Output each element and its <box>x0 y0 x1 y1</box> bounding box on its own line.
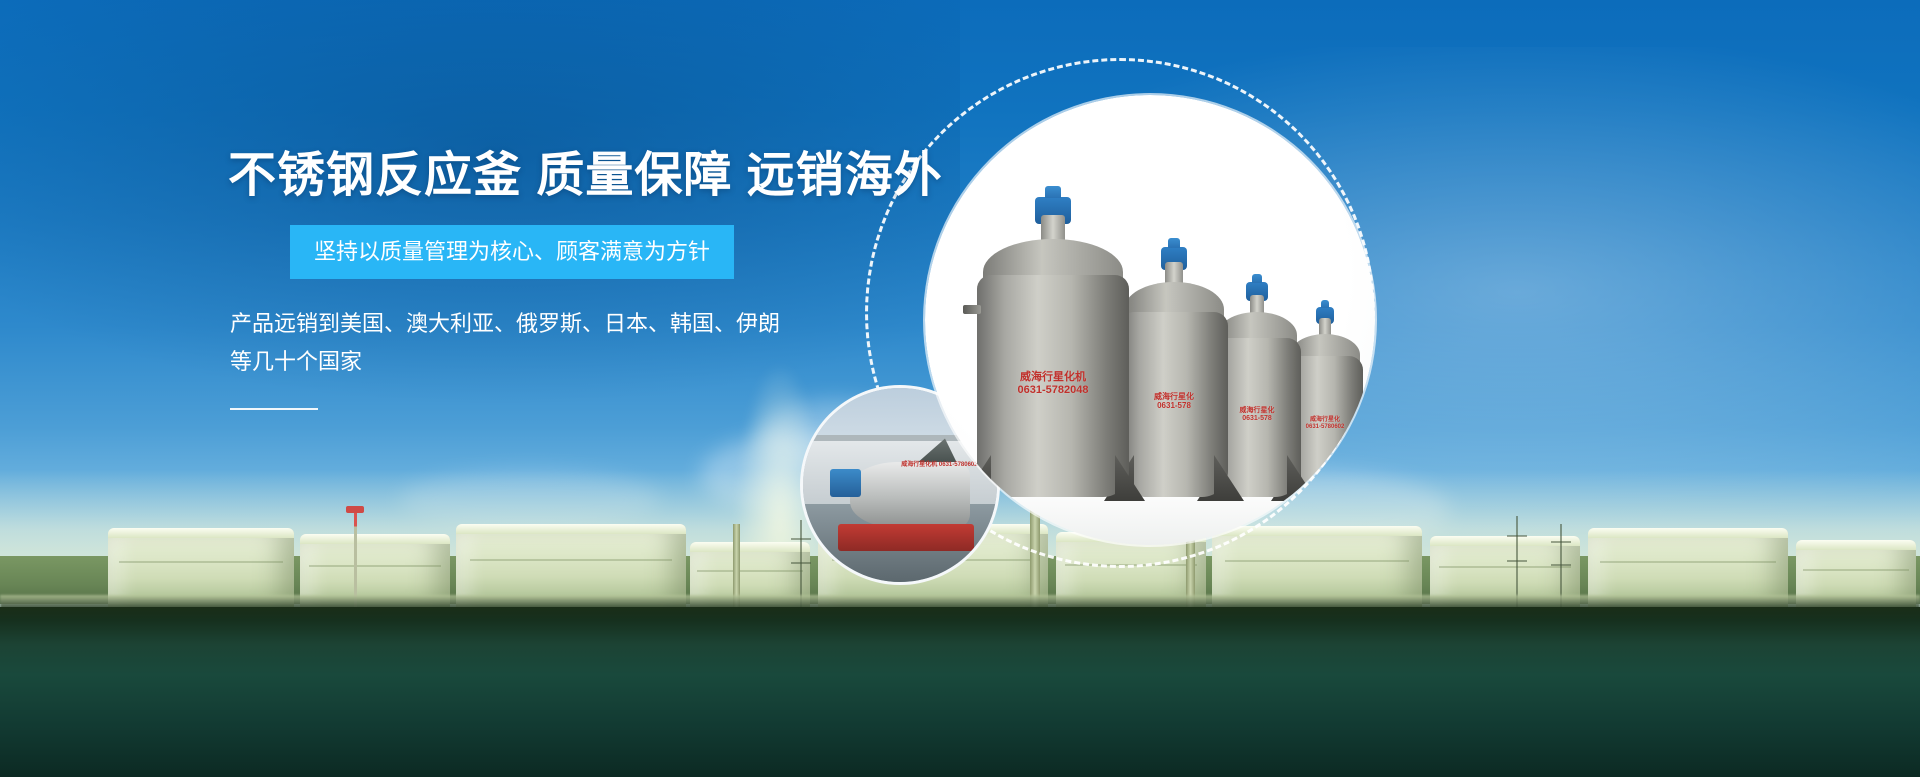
vessel-label: 威海行星化 0631-578 <box>1129 392 1220 410</box>
vessel-label-company: 威海行星化 <box>1129 392 1220 401</box>
vessel-label: 威海行星化机 0631-5782048 <box>989 371 1117 396</box>
banner-headline: 不锈钢反应釜 质量保障 远销海外 <box>228 150 928 203</box>
water <box>0 607 1920 777</box>
vessel-label: 威海行星化 0631-578 <box>1220 407 1294 423</box>
banner-paragraph-line-1: 产品远销到美国、澳大利亚、俄罗斯、日本、韩国、伊朗 <box>230 305 928 344</box>
banner-subtitle-bar: 坚持以质量管理为核心、顾客满意为方针 <box>290 225 734 279</box>
banner-paragraph-line-2: 等几十个国家 <box>230 343 928 382</box>
banner-paragraph: 产品远销到美国、澳大利亚、俄罗斯、日本、韩国、伊朗 等几十个国家 <box>230 305 928 382</box>
vessel-label-phone: 0631-578 <box>1129 401 1220 410</box>
photo-vessel-motor <box>830 469 861 496</box>
vessel-label-company: 威海行星化 <box>1220 407 1294 415</box>
photo-vessel-label: 威海行星化机 0631-5780602 <box>901 462 977 469</box>
vessel-label-phone: 0631-5782048 <box>989 384 1117 397</box>
vessel-label-phone: 0631-578 <box>1220 415 1294 423</box>
vessel-nozzle <box>963 305 981 314</box>
vessel-label-phone: 0631-5780602 <box>1293 424 1357 431</box>
reactor-vessel: 威海行星化 0631-578 <box>1120 247 1228 497</box>
reactor-vessel: 威海行星化机 0631-5782048 <box>977 197 1129 497</box>
main-product-photo: 威海行星化 0631-5780602 威海行星化 0631-578 <box>925 95 1375 545</box>
decorative-divider <box>230 408 318 410</box>
banner-copy: 不锈钢反应釜 质量保障 远销海外 坚持以质量管理为核心、顾客满意为方针 产品远销… <box>228 150 928 410</box>
vessel-label-company: 威海行星化机 <box>989 371 1117 384</box>
vessel-label: 威海行星化 0631-5780602 <box>1293 417 1357 431</box>
hero-banner: 威海行星化机 0631-5780602 威海行星化 0631-5780602 <box>0 0 1920 777</box>
